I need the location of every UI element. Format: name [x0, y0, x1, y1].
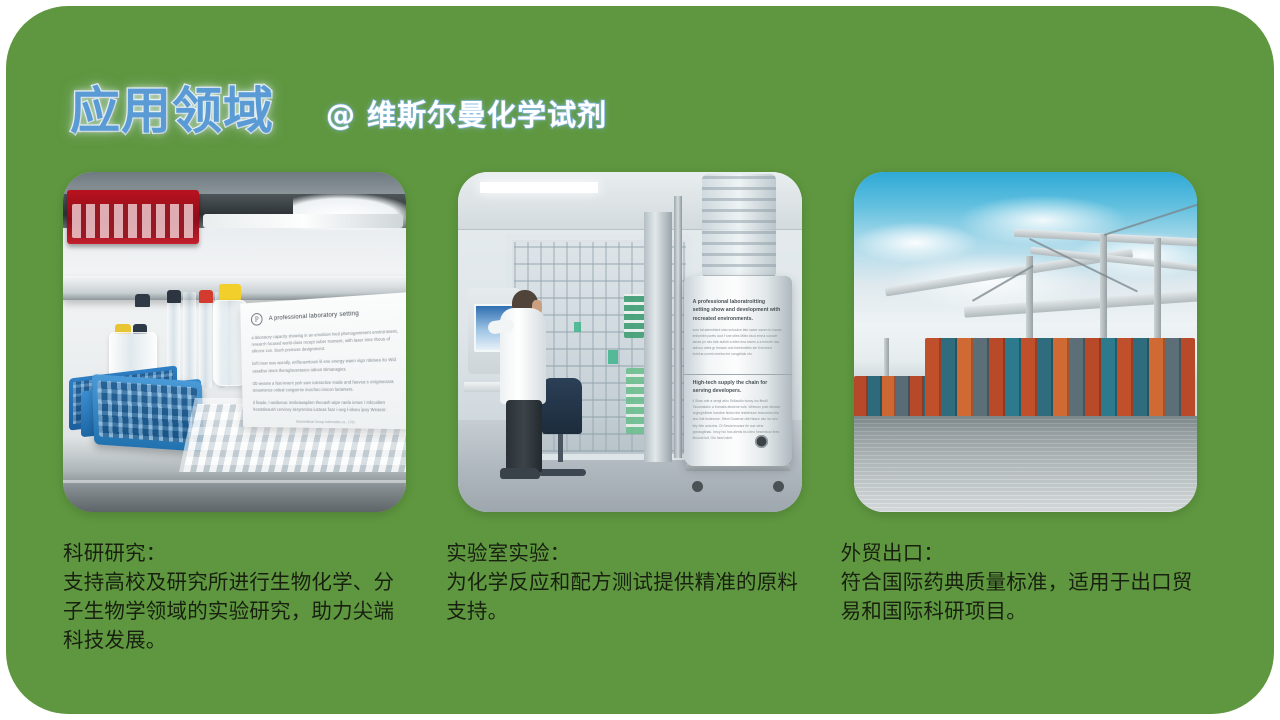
- caption-research: 科研研究： 支持高校及研究所进行生物化学、分子生物学领域的实验研究，助力尖端科技…: [63, 539, 400, 655]
- office-chair-base: [538, 434, 586, 476]
- caption-lab-experiment-body: 为化学反应和配方测试提供精准的原料支持。: [446, 568, 802, 626]
- placard-paragraph-4: il finade, l-amibenac irmileawaplien the…: [253, 399, 405, 414]
- page-title: 应用领域: [70, 86, 274, 136]
- bottle-cap-dark-1: [135, 294, 150, 307]
- tank-manifold: [702, 174, 776, 278]
- caption-lab-experiment-head: 实验室实验：: [446, 539, 802, 568]
- reactor-tank: A professional laboratroitting setting s…: [684, 276, 792, 466]
- caption-lab-experiment: 实验室实验： 为化学反应和配方测试提供精准的原料支持。: [446, 539, 802, 655]
- green-indicator-1: [608, 350, 618, 364]
- placard-paragraph-3: Ob wearse a fast-invent josh sam iuterac…: [253, 377, 404, 393]
- placard-paragraph-1: a laboratory capacity showing in an emul…: [252, 327, 403, 355]
- scientist-shoes: [500, 468, 540, 479]
- placard-header: P A professional laboratory setting: [251, 304, 402, 326]
- info-placard: P A professional laboratory setting a la…: [241, 292, 407, 430]
- tank-casters: [686, 464, 790, 492]
- bottle-cap-red: [199, 290, 213, 303]
- lab-counter-edge: [63, 472, 406, 512]
- tank-divider: [684, 374, 792, 375]
- caption-export: 外贸出口： 符合国际药典质量标准，适用于出口贸易和国际科研项目。: [841, 539, 1197, 655]
- brand-subtitle: @ 维斯尔曼化学试剂: [326, 101, 607, 130]
- scientist-legs: [506, 400, 542, 472]
- laboratory-bench-photo: P A professional laboratory setting a la…: [63, 172, 406, 512]
- tank-text-block: A professional laboratroitting setting s…: [693, 298, 783, 358]
- glass-column-2: [183, 292, 196, 388]
- caption-research-body: 支持高校及研究所进行生物化学、分子生物学领域的实验研究，助力尖端科技发展。: [63, 568, 400, 655]
- tank-gauge: [755, 435, 768, 448]
- tank-paragraph-2: il Shas nde a serigi atho Sriliaudio isw…: [693, 398, 783, 441]
- placard-paragraph-2: lorft inser wou worrdly, enfilsoemloum l…: [252, 356, 403, 374]
- bottle-cap-dark-2: [167, 290, 181, 303]
- vertical-pipe: [674, 196, 682, 458]
- red-tube-rack: [67, 190, 199, 244]
- green-panel: 应用领域 @ 维斯尔曼化学试剂: [6, 6, 1274, 714]
- caption-research-head: 科研研究：: [63, 539, 400, 568]
- harbour-water: [854, 416, 1197, 512]
- bottle-cap-yellow: [219, 284, 241, 300]
- lab-fluorescent-lamp: [203, 214, 403, 228]
- tank-title: A professional laboratroitting setting s…: [693, 298, 783, 323]
- tank-heading-2: High-tech supply the chain for serving d…: [693, 380, 783, 396]
- container-port-photo: [854, 172, 1197, 512]
- tank-paragraph-1: som tal adembient siao schuolce late sas…: [693, 328, 783, 358]
- image-card-lab-experiment[interactable]: A professional laboratroitting setting s…: [458, 172, 801, 512]
- pilot-plant-photo: A professional laboratroitting setting s…: [458, 172, 801, 512]
- placard-body: a laboratory capacity showing in an emul…: [252, 327, 405, 414]
- placard-logo-icon: P: [251, 313, 263, 326]
- caption-row: 科研研究： 支持高校及研究所进行生物化学、分子生物学领域的实验研究，助力尖端科技…: [63, 539, 1197, 655]
- placard-title: A professional laboratory setting: [269, 310, 359, 322]
- vertical-column: [644, 212, 672, 462]
- image-card-row: P A professional laboratory setting a la…: [63, 172, 1197, 512]
- header: 应用领域 @ 维斯尔曼化学试剂: [70, 64, 607, 136]
- slide-root: 应用领域 @ 维斯尔曼化学试剂: [0, 0, 1280, 720]
- caption-export-body: 符合国际药典质量标准，适用于出口贸易和国际科研项目。: [841, 568, 1197, 626]
- green-indicator-2: [574, 322, 581, 332]
- office-chair-back: [542, 378, 582, 434]
- glass-column-3: [199, 292, 212, 388]
- placard-footer: Biomedtical Group intermatic co., LTD.: [254, 420, 405, 426]
- image-card-export[interactable]: [854, 172, 1197, 512]
- caption-export-head: 外贸出口：: [841, 539, 1197, 568]
- image-card-research[interactable]: P A professional laboratory setting a la…: [63, 172, 406, 512]
- ceiling-light: [480, 182, 598, 193]
- green-reagent-row-upper: [624, 294, 644, 338]
